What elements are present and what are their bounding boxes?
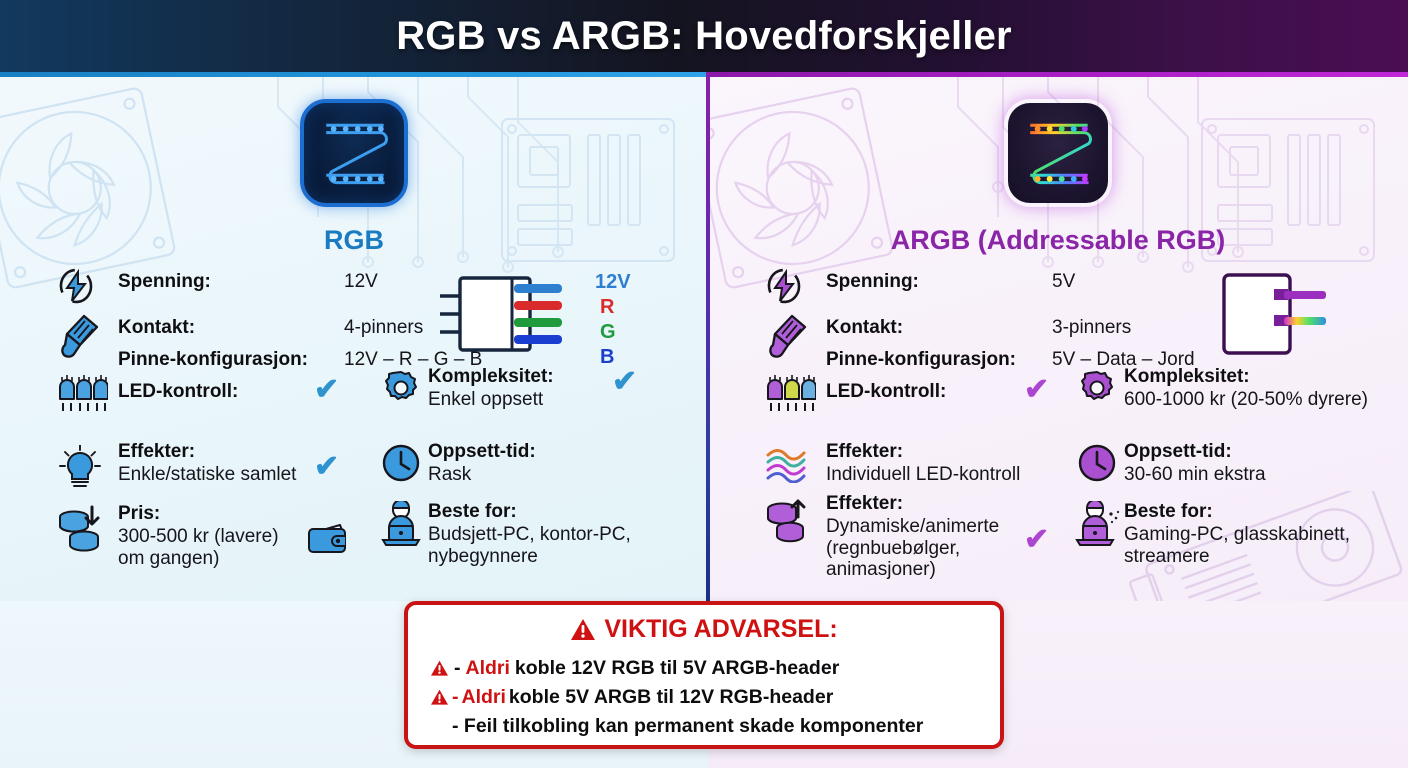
argb-3pin-connector-diagram — [1216, 267, 1346, 363]
row-label: Effekter: — [826, 441, 1020, 463]
row-label: Kontakt: — [118, 317, 195, 339]
row-label: Kontakt: — [826, 317, 903, 339]
coins-down-icon — [56, 505, 106, 553]
gear-icon — [1078, 369, 1116, 407]
row-kompleksitet-left: Kompleksitet: Enkel oppsett — [428, 366, 554, 411]
row-effekter-left: Effekter: Enkle/statiske samlet — [118, 441, 296, 486]
row-value: 4-pinners — [344, 317, 423, 339]
check-kompleksitet-left: ✔ — [612, 367, 637, 397]
row-label: Spenning: — [118, 271, 211, 293]
warning-title-text: VIKTIG ADVARSEL: — [604, 615, 837, 644]
row-value: 30-60 min ekstra — [1124, 464, 1266, 486]
row-label: Effekter: — [826, 493, 999, 515]
check-effekter-left: ✔ — [314, 452, 339, 482]
row-label: LED-kontroll: — [118, 381, 238, 403]
row-label: Kompleksitet: — [1124, 366, 1368, 388]
warning-triangle-icon — [570, 618, 596, 642]
row-value: 600-1000 kr (20-50% dyrere) — [1124, 389, 1368, 411]
rgb-tile-wrap — [0, 99, 708, 207]
row-ledkontroll-left: LED-kontroll: — [118, 381, 238, 403]
led-bulbs-icon — [764, 373, 816, 415]
person-laptop-icon — [380, 501, 422, 547]
warning-triangle-icon — [430, 660, 449, 677]
row-value: Gaming-PC, glasskabinett, streamere — [1124, 524, 1350, 567]
page-header: RGB vs ARGB: Hovedforskjeller — [0, 0, 1408, 72]
rainbow-waves-icon — [764, 443, 810, 483]
pin-label-r: R — [600, 296, 614, 319]
pin-label-g: G — [600, 321, 616, 344]
warning-title-row: VIKTIG ADVARSEL: — [422, 615, 986, 644]
warning-strong: Aldri — [462, 686, 506, 709]
row-value: Dynamiske/animerte (regnbuebølger, anima… — [826, 516, 999, 581]
warning-rest: koble 5V ARGB til 12V RGB-header — [509, 686, 833, 709]
warning-line-1: - Aldri koble 12V RGB til 5V ARGB-header — [430, 657, 839, 680]
warning-line-3: - Feil tilkobling kan permanent skade ko… — [452, 715, 923, 738]
row-value: Enkel oppsett — [428, 389, 554, 411]
person-laptop-icon — [1074, 501, 1122, 549]
panel-title-rgb: RGB — [0, 225, 708, 256]
check-ledkontroll-left: ✔ — [314, 375, 339, 405]
row-value: Rask — [428, 464, 536, 486]
row-bestefor-left: Beste for: Budsjett-PC, kontor-PC, nybeg… — [428, 501, 631, 567]
warning-strong: Aldri — [466, 657, 510, 680]
gear-icon — [382, 369, 420, 407]
row-ledkontroll-right: LED-kontroll: — [826, 381, 946, 403]
panel-divider — [706, 72, 710, 601]
infographic-root: RGB vs ARGB: Hovedforskjeller — [0, 0, 1408, 768]
voltage-bolt-icon — [56, 267, 96, 305]
row-value: Individuell LED-kontroll — [826, 464, 1020, 486]
row-oppsetttid-right: Oppsett-tid: 30-60 min ekstra — [1124, 441, 1266, 486]
row-value: Budsjett-PC, kontor-PC, nybegynnere — [428, 524, 631, 567]
clock-icon — [380, 442, 422, 484]
warning-rest: koble 12V RGB til 5V ARGB-header — [515, 657, 839, 680]
row-label: Spenning: — [826, 271, 919, 293]
argb-tile-wrap — [708, 99, 1408, 207]
row-label: Oppsett-tid: — [1124, 441, 1266, 463]
warning-line-2: - Aldri koble 5V ARGB til 12V RGB-header — [430, 686, 833, 709]
pin-label-12v: 12V — [595, 271, 631, 294]
row-value: 12V — [344, 271, 378, 293]
row-label: Pris: — [118, 503, 279, 525]
row-value: 3-pinners — [1052, 317, 1131, 339]
check-ledkontroll-right: ✔ — [1024, 375, 1049, 405]
row-label: Beste for: — [428, 501, 631, 523]
row-kompleksitet-right: Kompleksitet: 600-1000 kr (20-50% dyrere… — [1124, 366, 1368, 411]
z-strip-rainbow-glyph-icon — [1008, 103, 1108, 203]
lightbulb-icon — [58, 445, 102, 491]
connector-plug-icon — [762, 311, 810, 361]
wallet-icon — [306, 519, 350, 555]
panel-argb: ARGB (Addressable RGB) Spenning: 5V Kont… — [708, 77, 1408, 601]
led-bulbs-icon — [56, 373, 108, 415]
panel-title-argb: ARGB (Addressable RGB) — [708, 225, 1408, 256]
warning-dash: - — [452, 686, 459, 709]
row-label: LED-kontroll: — [826, 381, 946, 403]
comparison-panels: RGB Spenning: 12V Kontakt: — [0, 77, 1408, 601]
page-title: RGB vs ARGB: Hovedforskjeller — [396, 14, 1012, 59]
check-effekter2-right: ✔ — [1024, 525, 1049, 555]
warning-box: VIKTIG ADVARSEL: - Aldri koble 12V RGB t… — [404, 601, 1004, 749]
coins-up-icon — [764, 495, 814, 545]
row-oppsetttid-left: Oppsett-tid: Rask — [428, 441, 536, 486]
row-label: Kompleksitet: — [428, 366, 554, 388]
warning-triangle-icon — [430, 689, 449, 706]
warning-dash: - — [454, 657, 461, 680]
row-value: 5V — [1052, 271, 1075, 293]
row-pris-left: Pris: 300-500 kr (lavere) om gangen) — [118, 503, 279, 569]
row-label: Effekter: — [118, 441, 296, 463]
z-strip-glyph-icon — [304, 103, 404, 203]
row-label: Pinne-konfigurasjon: — [826, 349, 1016, 371]
connector-plug-icon — [54, 311, 102, 361]
row-label: Oppsett-tid: — [428, 441, 536, 463]
row-effekter2-right: Effekter: Dynamiske/animerte (regnbuebøl… — [826, 493, 999, 581]
row-effekter-right: Effekter: Individuell LED-kontroll — [826, 441, 1020, 486]
rgb-4pin-connector-diagram — [440, 270, 590, 362]
row-label: Pinne-konfigurasjon: — [118, 349, 308, 371]
row-bestefor-right: Beste for: Gaming-PC, glasskabinett, str… — [1124, 501, 1350, 567]
row-value: 300-500 kr (lavere) om gangen) — [118, 526, 279, 569]
argb-strip-tile-icon — [1004, 99, 1112, 207]
rgb-strip-tile-icon — [300, 99, 408, 207]
panel-rgb: RGB Spenning: 12V Kontakt: — [0, 77, 708, 601]
row-label: Beste for: — [1124, 501, 1350, 523]
row-value: Enkle/statiske samlet — [118, 464, 296, 486]
clock-icon — [1076, 442, 1118, 484]
voltage-bolt-icon — [764, 267, 804, 305]
